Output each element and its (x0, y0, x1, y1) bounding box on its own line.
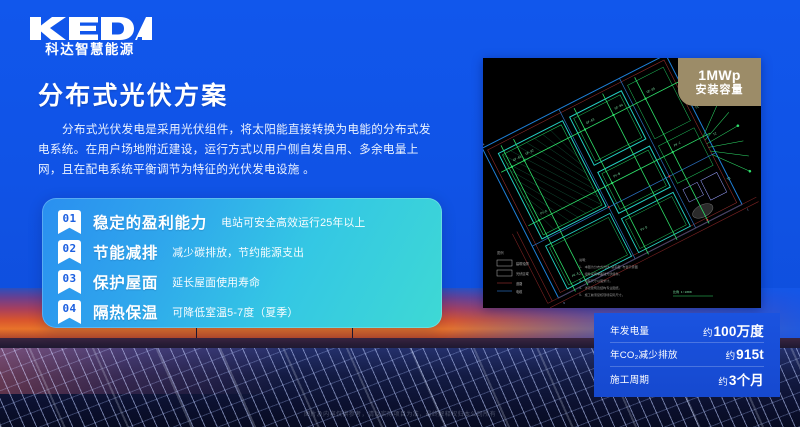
metric-number: 3个月 (729, 373, 764, 388)
key-metrics-panel: 年发电量 约100万度 年CO₂减少排放 约915t 施工周期 约3个月 (594, 313, 780, 397)
feature-desc: 电站可安全高效运行25年以上 (221, 214, 365, 230)
svg-text:5. 施工前须复核现场实际尺寸。: 5. 施工前须复核现场实际尺寸。 (579, 292, 625, 297)
feature-number: 04 (58, 302, 81, 315)
feature-number-badge-icon: 01 (58, 210, 81, 234)
svg-text:3. 所有尺寸以毫米计。: 3. 所有尺寸以毫米计。 (579, 278, 612, 283)
metric-value: 约100万度 (703, 320, 764, 340)
slide-canvas: 科达智慧能源 分布式光伏方案 分布式光伏发电是采用光伏组件，将太阳能直接转换为电… (0, 0, 800, 427)
svg-text:建筑轮廓: 建筑轮廓 (516, 261, 530, 266)
brand-logo-chinese: 科达智慧能源 (28, 42, 152, 57)
metric-prefix: 约 (726, 351, 736, 362)
metric-prefix: 约 (703, 328, 713, 339)
metric-label: 施工周期 (610, 372, 649, 386)
footer-disclaimer: 图片及内容仅供参考，请以实际项目为准，最终解释权归本公司所有 (0, 409, 800, 418)
feature-desc: 延长屋面使用寿命 (172, 274, 260, 290)
capacity-label: 安装容量 (696, 84, 744, 97)
svg-text:4. 详见建筑及结构专业图纸。: 4. 详见建筑及结构专业图纸。 (579, 285, 622, 290)
feature-item-04: 04 隔热保温 可降低室温5-7度（夏季） (42, 297, 442, 327)
feature-item-01: 01 稳定的盈利能力 电站可安全高效运行25年以上 (42, 207, 442, 237)
metric-label: 年发电量 (610, 323, 649, 337)
metric-prefix: 约 (718, 377, 728, 388)
metric-number: 100万度 (713, 324, 764, 339)
feature-number: 02 (58, 242, 81, 255)
feature-title: 保护屋面 (93, 271, 158, 293)
feature-item-02: 02 节能减排 减少碳排放，节约能源支出 (42, 237, 442, 267)
feature-title: 节能减排 (93, 241, 158, 263)
feature-list-panel: 01 稳定的盈利能力 电站可安全高效运行25年以上 02 节能减排 减少碳排放，… (42, 198, 442, 328)
feature-desc: 减少碳排放，节约能源支出 (172, 244, 304, 260)
feature-number-badge-icon: 04 (58, 300, 81, 324)
svg-text:道路: 道路 (516, 281, 523, 286)
brand-logo: 科达智慧能源 (28, 16, 152, 58)
intro-paragraph: 分布式光伏发电是采用光伏组件，将太阳能直接转换为电能的分布式发电系统。在用户场地… (38, 120, 438, 180)
svg-text:比例 1:1000: 比例 1:1000 (673, 289, 692, 294)
metric-row-construction-period: 施工周期 约3个月 (610, 367, 764, 392)
cad-site-plan: GF-01GF-02 GF-03GF-04 GF-05PV-A PV-BPV-C… (483, 58, 761, 308)
feature-title: 稳定的盈利能力 (93, 211, 207, 233)
metric-value: 约915t (726, 347, 764, 362)
metric-number: 915t (736, 347, 764, 362)
feature-item-03: 03 保护屋面 延长屋面使用寿命 (42, 267, 442, 297)
svg-text:说明：: 说明： (579, 257, 588, 262)
page-title: 分布式光伏方案 (38, 76, 228, 112)
svg-text:1. 本图为分布式光伏 总平面: 1. 本图为分布式光伏 总平面 布置示意图 (579, 264, 638, 269)
feature-number-badge-icon: 03 (58, 270, 81, 294)
svg-text:图例: 图例 (497, 250, 504, 255)
feature-desc: 可降低室温5-7度（夏季） (172, 304, 298, 320)
svg-text:2. 组件采用单晶硅光伏组件。: 2. 组件采用单晶硅光伏组件。 (579, 271, 622, 276)
metric-row-annual-generation: 年发电量 约100万度 (610, 318, 764, 343)
feature-number: 01 (58, 212, 81, 225)
capacity-value: 1MWp (698, 68, 740, 83)
capacity-badge: 1MWp 安装容量 (678, 58, 761, 106)
keda-wordmark-icon (28, 16, 152, 41)
metric-label: 年CO₂减少排放 (610, 347, 678, 361)
feature-number: 03 (58, 272, 81, 285)
feature-title: 隔热保温 (93, 301, 158, 323)
metric-row-co2-reduction: 年CO₂减少排放 约915t (610, 343, 764, 368)
svg-text:电缆: 电缆 (516, 289, 523, 294)
metric-value: 约3个月 (718, 369, 764, 389)
svg-text:光伏区域: 光伏区域 (516, 271, 530, 276)
feature-number-badge-icon: 02 (58, 240, 81, 264)
